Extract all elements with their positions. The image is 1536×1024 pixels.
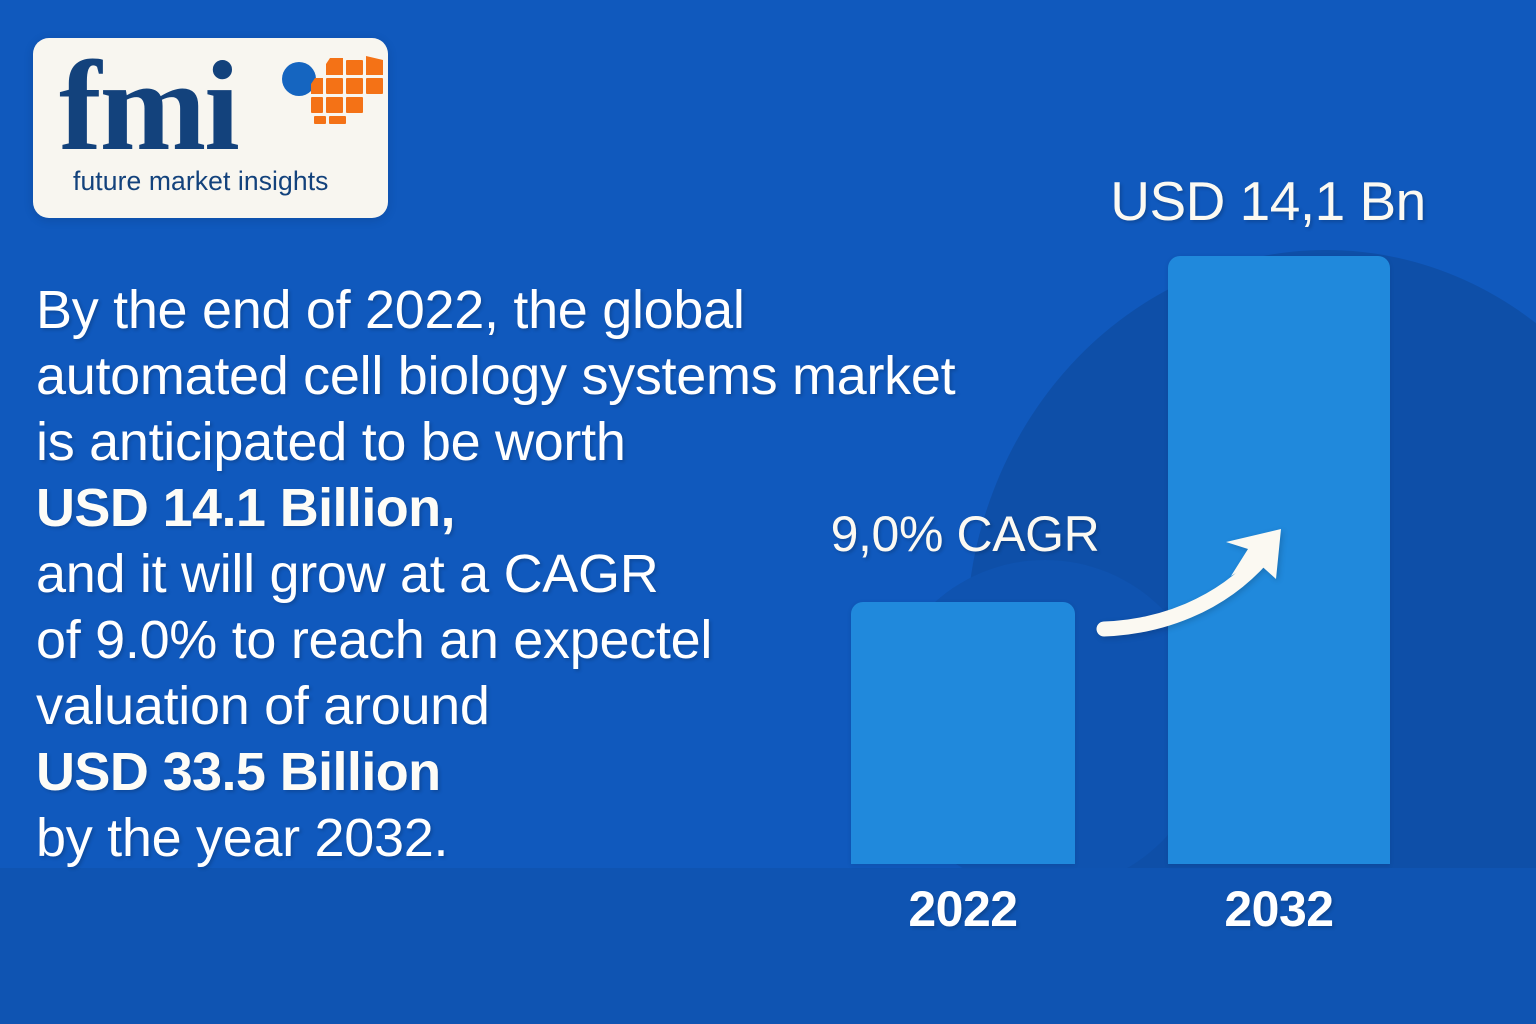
bar-2022 (851, 602, 1075, 864)
bar-category-label-2022: 2022 (848, 880, 1078, 938)
bar-chart: USD 14,1 Bn 9,0% CAGR 2022 2032 (780, 150, 1480, 980)
logo-tagline-text: future market insights (73, 166, 329, 197)
fmi-grid-mark-icon (305, 54, 385, 126)
growth-arrow-icon (1080, 490, 1320, 650)
bar-value-label-2032: USD 14,1 Bn (1058, 169, 1478, 233)
bar-category-label-2032: 2032 (1164, 880, 1394, 938)
fmi-logo-card: fmi future market insights (33, 38, 388, 218)
infographic-canvas: fmi future market insights By the end of… (0, 0, 1536, 1024)
logo-wordmark-text: fmi (59, 42, 238, 170)
